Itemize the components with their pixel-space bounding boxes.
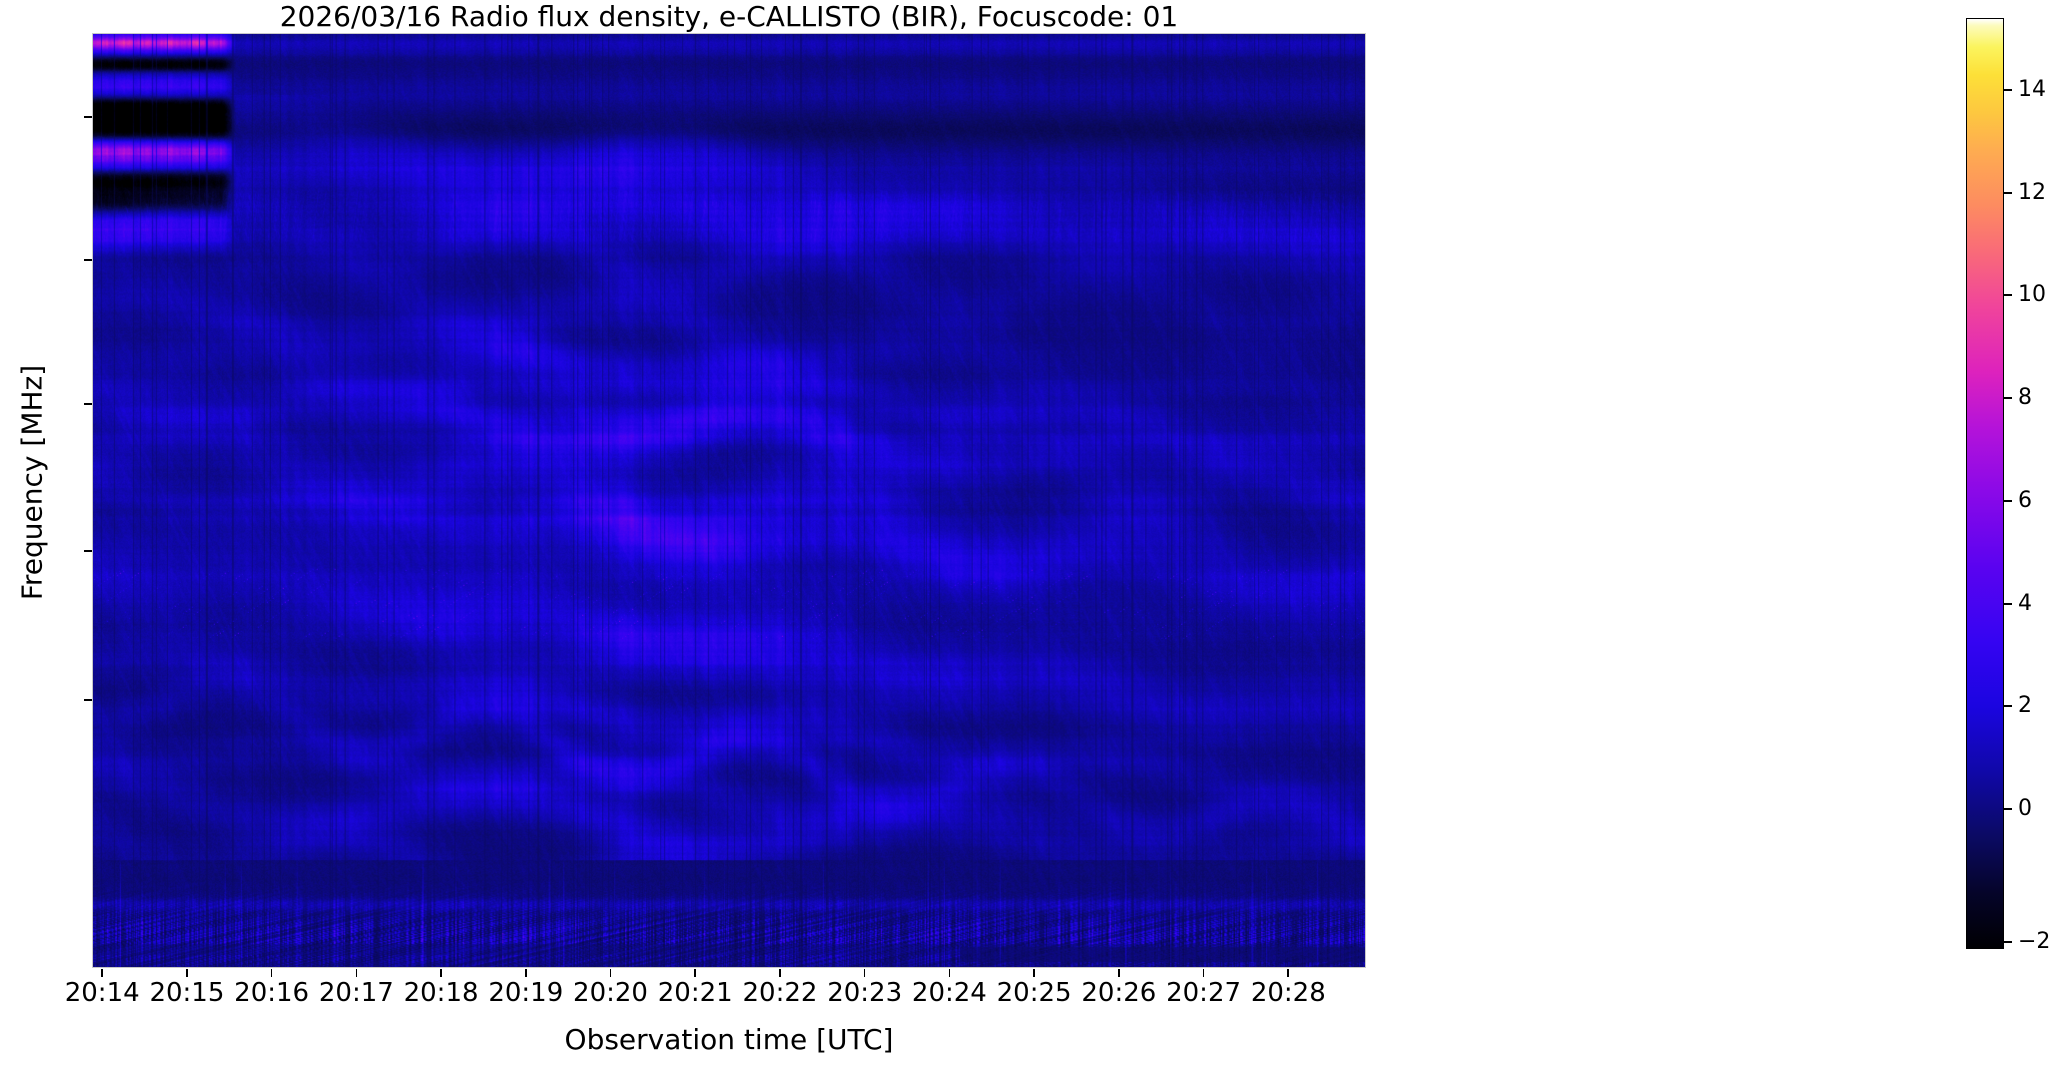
x-tick-mark bbox=[101, 969, 103, 977]
colorbar-tick-mark bbox=[2004, 397, 2012, 399]
spectrogram-figure: 2026/03/16 Radio flux density, e-CALLIST… bbox=[0, 0, 2066, 1067]
x-tick-mark bbox=[949, 969, 951, 977]
colorbar-tick-label: 10 bbox=[2018, 282, 2066, 307]
x-tick-mark bbox=[1203, 969, 1205, 977]
x-tick-mark bbox=[271, 969, 273, 977]
colorbar-tick-label: 4 bbox=[2018, 591, 2066, 616]
colorbar-tick-mark bbox=[2004, 192, 2012, 194]
colorbar-tick-label: 6 bbox=[2018, 488, 2066, 513]
colorbar-tick-label: 12 bbox=[2018, 180, 2066, 205]
colorbar-tick-label: 0 bbox=[2018, 796, 2066, 821]
x-tick-mark bbox=[356, 969, 358, 977]
x-axis-label: Observation time [UTC] bbox=[92, 1023, 1366, 1056]
x-tick-mark bbox=[779, 969, 781, 977]
colorbar-gradient bbox=[1966, 18, 2004, 949]
x-tick-label: 20:28 bbox=[1228, 978, 1348, 1008]
colorbar-tick-label: 14 bbox=[2018, 77, 2066, 102]
x-tick-mark bbox=[610, 969, 612, 977]
x-tick-mark bbox=[1287, 969, 1289, 977]
spectrogram-image bbox=[93, 34, 1365, 967]
x-tick-mark bbox=[1118, 969, 1120, 977]
y-tick-mark bbox=[84, 403, 92, 405]
colorbar-tick-mark bbox=[2004, 705, 2012, 707]
y-axis-label: Frequency [MHz] bbox=[16, 223, 49, 743]
colorbar-tick-label: 2 bbox=[2018, 693, 2066, 718]
y-tick-mark bbox=[84, 259, 92, 261]
x-tick-mark bbox=[694, 969, 696, 977]
page-title: 2026/03/16 Radio flux density, e-CALLIST… bbox=[92, 2, 1366, 32]
colorbar-tick-mark bbox=[2004, 89, 2012, 91]
y-tick-mark bbox=[84, 699, 92, 701]
x-tick-mark bbox=[186, 969, 188, 977]
x-tick-mark bbox=[525, 969, 527, 977]
spectrogram-axes[interactable] bbox=[92, 33, 1366, 968]
colorbar-tick-label: −2 bbox=[2018, 929, 2066, 954]
x-tick-mark bbox=[1033, 969, 1035, 977]
colorbar-tick-mark bbox=[2004, 603, 2012, 605]
colorbar-tick-mark bbox=[2004, 294, 2012, 296]
y-tick-mark bbox=[84, 550, 92, 552]
colorbar-tick-mark bbox=[2004, 941, 2012, 943]
colorbar-tick-mark bbox=[2004, 500, 2012, 502]
colorbar-tick-label: 8 bbox=[2018, 385, 2066, 410]
y-tick-mark bbox=[84, 116, 92, 118]
x-tick-mark bbox=[440, 969, 442, 977]
x-tick-mark bbox=[864, 969, 866, 977]
colorbar-tick-mark bbox=[2004, 808, 2012, 810]
